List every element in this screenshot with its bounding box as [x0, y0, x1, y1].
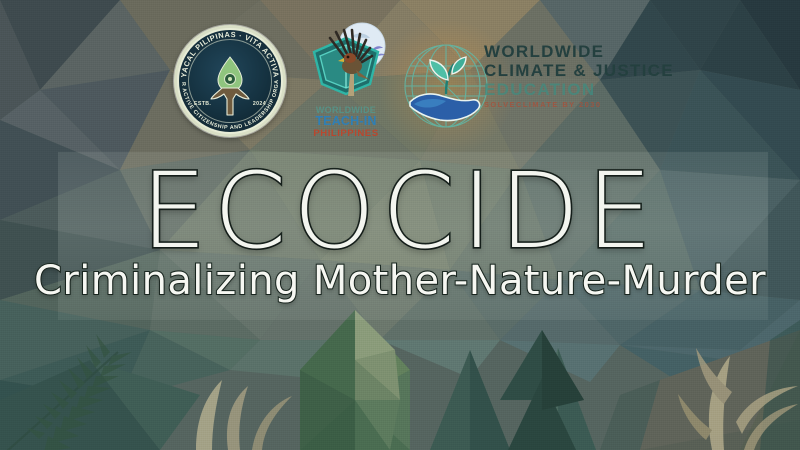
logo-teach-in-philippines: WORLDWIDE TEACH-IN PHILIPPINES — [300, 22, 392, 142]
wcje-line-1: WORLDWIDE — [484, 42, 724, 61]
wcje-line-3: EDUCATION — [484, 80, 724, 99]
seal-emblem-tree-icon — [207, 55, 253, 117]
poster-subheadline: Criminalizing Mother-Nature-Murder — [0, 258, 800, 304]
open-book-bird-icon — [300, 22, 392, 108]
teach-in-line-3: PHILIPPINES — [300, 129, 392, 139]
seal-established-year: 2024 — [253, 101, 266, 107]
wcje-wordmark: WORLDWIDE CLIMATE & JUSTICE EDUCATION SO… — [484, 42, 724, 109]
poster-canvas: YACAL PILIPINAS · VITA ACTIVA YOUTH FOR … — [0, 0, 800, 450]
wcje-line-2: CLIMATE & JUSTICE — [484, 61, 724, 80]
teach-in-line-2: TEACH-IN — [300, 115, 392, 128]
seal-year-row: ESTB. 2024 — [174, 101, 286, 107]
globe-hand-sprout-icon — [398, 38, 494, 134]
logo-row: YACAL PILIPINAS · VITA ACTIVA YOUTH FOR … — [0, 0, 800, 150]
subheadline-text: Criminalizing Mother-Nature-Murder — [34, 258, 766, 304]
poster-headline: ECOCIDE — [0, 158, 800, 264]
teach-in-line-1: WORLDWIDE — [300, 106, 392, 115]
teach-in-wordmark: WORLDWIDE TEACH-IN PHILIPPINES — [300, 106, 392, 139]
logo-yacal-pilipinas: YACAL PILIPINAS · VITA ACTIVA YOUTH FOR … — [174, 25, 286, 137]
wcje-tagline: SOLVECLIMATE BY 2030 — [484, 101, 724, 109]
headline-text: ECOCIDE — [141, 158, 659, 264]
seal-established-label: ESTB. — [194, 101, 211, 107]
